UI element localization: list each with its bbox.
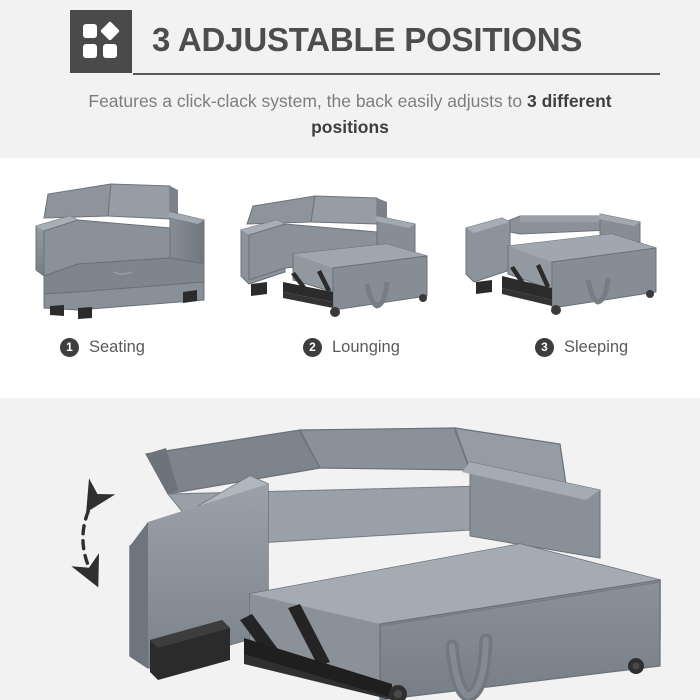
- subtitle-lead-text: Features a click-clack system, the back …: [88, 91, 527, 111]
- positions-card-list: 1 Seating 2 Lounging 3 Sleeping: [0, 158, 700, 398]
- sofa-bed-extended-closeup-illustration: [0, 398, 700, 700]
- subtitle: Features a click-clack system, the back …: [60, 88, 640, 140]
- positions-panel: 1 Seating 2 Lounging 3 Sleeping: [0, 158, 700, 398]
- page-title: 3 ADJUSTABLE POSITIONS: [152, 10, 582, 70]
- four-blocks-icon: [70, 10, 132, 73]
- sofa-upright-seating-illustration: [18, 172, 230, 342]
- position-badge-3: 3: [535, 338, 554, 357]
- sofa-flat-bed-sleeping-illustration: [460, 172, 672, 342]
- icon-diamond-top-right: [100, 21, 120, 41]
- position-label-lounging: 2 Lounging: [303, 334, 400, 360]
- infographic-page: 3 ADJUSTABLE POSITIONS Features a click-…: [0, 0, 700, 700]
- icon-square-top-left: [83, 24, 97, 38]
- position-badge-2: 2: [303, 338, 322, 357]
- title-row: 3 ADJUSTABLE POSITIONS: [70, 10, 582, 73]
- title-divider: [133, 73, 660, 75]
- icon-square-bottom-left: [83, 44, 97, 58]
- position-badge-1: 1: [60, 338, 79, 357]
- position-card-seating: [18, 172, 230, 342]
- position-label-seating: 1 Seating: [60, 334, 145, 360]
- position-label-sleeping: 3 Sleeping: [535, 334, 628, 360]
- position-label-text-1: Seating: [89, 338, 145, 357]
- sofa-half-extended-lounging-illustration: [237, 172, 449, 342]
- position-card-lounging: [237, 172, 449, 342]
- icon-square-bottom-right: [103, 44, 117, 58]
- position-label-text-2: Lounging: [332, 338, 400, 357]
- hero-section: [0, 398, 700, 700]
- position-card-sleeping: [460, 172, 672, 342]
- curved-dashed-double-arrow: [83, 498, 95, 572]
- header-section: 3 ADJUSTABLE POSITIONS Features a click-…: [0, 0, 700, 158]
- position-label-text-3: Sleeping: [564, 338, 628, 357]
